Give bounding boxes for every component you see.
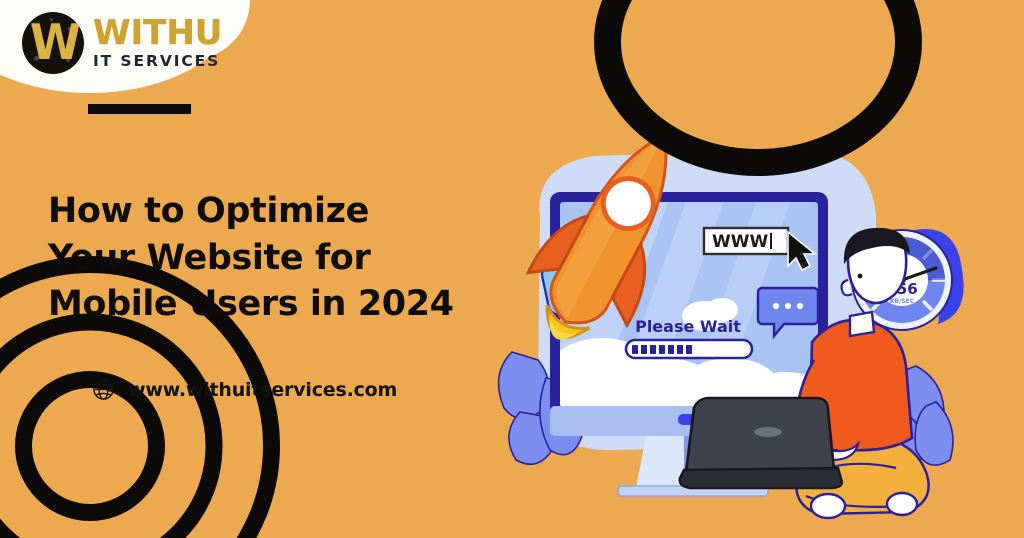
progress-fill <box>632 345 692 354</box>
page-title: How to Optimize Your Website for Mobile … <box>48 188 528 328</box>
brand-tagline: IT SERVICES <box>93 54 222 70</box>
banner-canvas: Please Wait <box>0 0 1024 538</box>
browser-url-text: WWW <box>712 232 769 252</box>
text-caret <box>770 233 772 249</box>
website-url[interactable]: www.withuitservices.com <box>92 378 397 401</box>
headline-line-3: Mobile Users in 2024 <box>48 281 528 328</box>
browser-bar: WWW <box>704 228 788 254</box>
brand-name: WITHU <box>93 16 222 50</box>
logo-w-glyph: W <box>30 19 75 68</box>
withu-w-monogram-icon: W <box>22 12 84 74</box>
website-url-text: www.withuitservices.com <box>128 379 397 401</box>
globe-icon <box>92 378 115 401</box>
loading-label: Please Wait <box>635 317 741 336</box>
headline-line-1: How to Optimize <box>48 188 528 235</box>
gauge-unit: KB/SEC <box>890 298 915 305</box>
headline-line-2: Your Website for <box>48 235 528 282</box>
black-rule-icon <box>88 104 191 114</box>
website-speed-optimization-illustration: Please Wait <box>498 120 958 538</box>
brand-logo[interactable]: W WITHU IT SERVICES <box>22 12 222 74</box>
laptop-icon <box>680 398 842 488</box>
